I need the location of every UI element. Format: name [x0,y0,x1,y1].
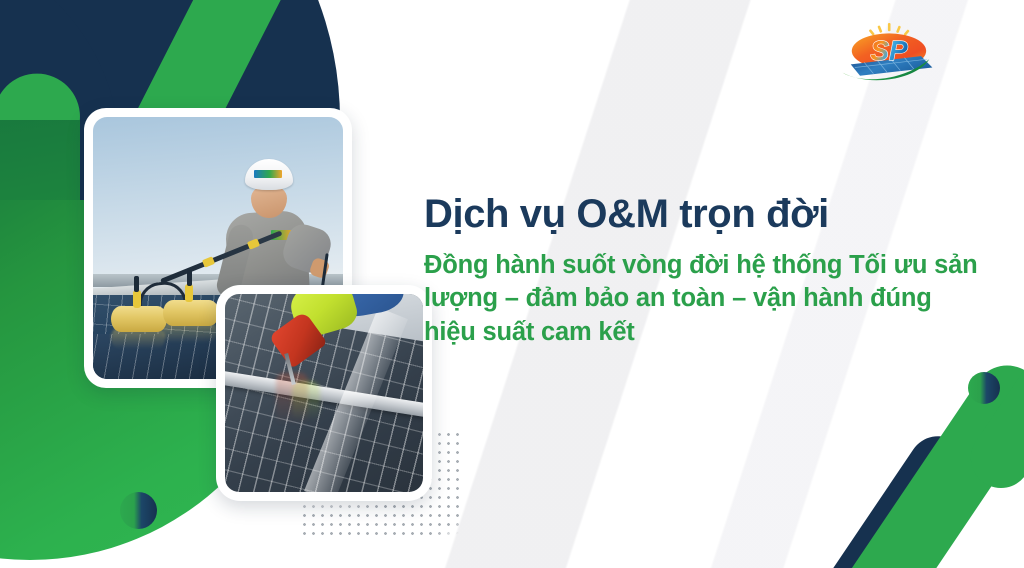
banner-root: Dịch vụ O&M trọn đời Đồng hành suốt vòng… [0,0,1024,568]
photo-technician-drilling-panel [225,294,423,492]
sp-logo[interactable]: SP [838,22,942,84]
page-subtitle: Đồng hành suốt vòng đời hệ thống Tối ưu … [424,249,990,350]
cleaning-brush-right [163,300,219,326]
gradient-circle-left [120,492,157,529]
text-block: Dịch vụ O&M trọn đời Đồng hành suốt vòng… [424,192,990,350]
gradient-circle-right [968,372,1000,404]
glove-reflection [292,381,320,421]
sp-logo-icon: SP [838,22,942,84]
cleaning-brush-left [111,306,167,332]
hardhat-logo [254,170,283,178]
sp-logo-text: SP [870,35,908,66]
page-title: Dịch vụ O&M trọn đời [424,192,990,237]
photo-card-technician-drilling [216,285,432,501]
